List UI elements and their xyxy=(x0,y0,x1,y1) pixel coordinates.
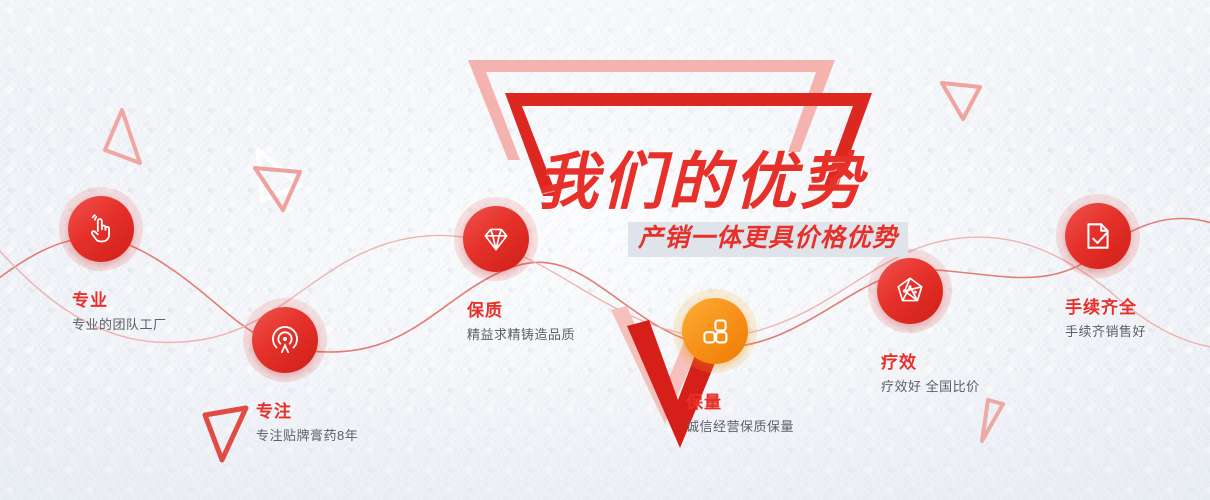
feature-item-liaoxiao[interactable]: 疗效 疗效好 全国比价 xyxy=(877,258,943,324)
page-subtitle: 产销一体更具价格优势 xyxy=(638,224,898,252)
feature-badge[interactable] xyxy=(252,307,318,373)
feature-title: 专业 xyxy=(72,286,167,311)
feature-text-block: 保量 诚信经营保质保量 xyxy=(686,376,794,435)
feature-text-block: 专业 专业的团队工厂 xyxy=(72,274,167,333)
feature-badge[interactable] xyxy=(1065,203,1131,269)
feature-item-zhuanzhu[interactable]: 专注 专注贴牌膏药8年 xyxy=(252,307,318,373)
grid-blocks-icon xyxy=(699,315,731,347)
feature-text-block: 疗效 疗效好 全国比价 xyxy=(881,336,980,395)
headline-group: 我们的优势 产销一体更具价格优势 xyxy=(536,152,956,257)
feature-title: 手续齐全 xyxy=(1065,293,1146,318)
feature-item-shouxuqiquan[interactable]: 手续齐全 手续齐销售好 xyxy=(1065,203,1131,269)
document-check-icon xyxy=(1081,219,1115,253)
pentagon-network-icon xyxy=(893,274,927,308)
advantages-banner: 我们的优势 产销一体更具价格优势 专业 专业的团队工厂 xyxy=(0,0,1210,500)
feature-subtitle: 疗效好 全国比价 xyxy=(881,376,980,395)
feature-subtitle: 精益求精铸造品质 xyxy=(467,324,575,343)
feature-text-block: 手续齐全 手续齐销售好 xyxy=(1065,281,1146,340)
feature-subtitle: 诚信经营保质保量 xyxy=(686,416,794,435)
feature-text-block: 保质 精益求精铸造品质 xyxy=(467,284,575,343)
page-title: 我们的优势 xyxy=(536,152,956,214)
feature-subtitle: 专业的团队工厂 xyxy=(72,314,167,333)
feature-subtitle: 专注贴牌膏药8年 xyxy=(256,425,358,444)
feature-subtitle: 手续齐销售好 xyxy=(1065,321,1146,340)
feature-title: 疗效 xyxy=(881,348,980,373)
feature-item-zhuanye[interactable]: 专业 专业的团队工厂 xyxy=(68,196,134,262)
feature-item-baozhi[interactable]: 保质 精益求精铸造品质 xyxy=(463,206,529,272)
feature-badge[interactable] xyxy=(463,206,529,272)
subheadline-band: 产销一体更具价格优势 xyxy=(628,222,908,257)
feature-title: 保质 xyxy=(467,296,575,321)
radar-signal-icon xyxy=(268,323,302,357)
feature-text-block: 专注 专注贴牌膏药8年 xyxy=(256,385,358,444)
feature-badge[interactable] xyxy=(68,196,134,262)
feature-title: 保量 xyxy=(686,388,794,413)
hand-pointer-icon xyxy=(84,212,118,246)
feature-badge[interactable] xyxy=(682,298,748,364)
feature-item-baoliang[interactable]: 保量 诚信经营保质保量 xyxy=(682,298,748,364)
feature-badge[interactable] xyxy=(877,258,943,324)
feature-title: 专注 xyxy=(256,397,358,422)
diamond-icon xyxy=(479,222,513,256)
